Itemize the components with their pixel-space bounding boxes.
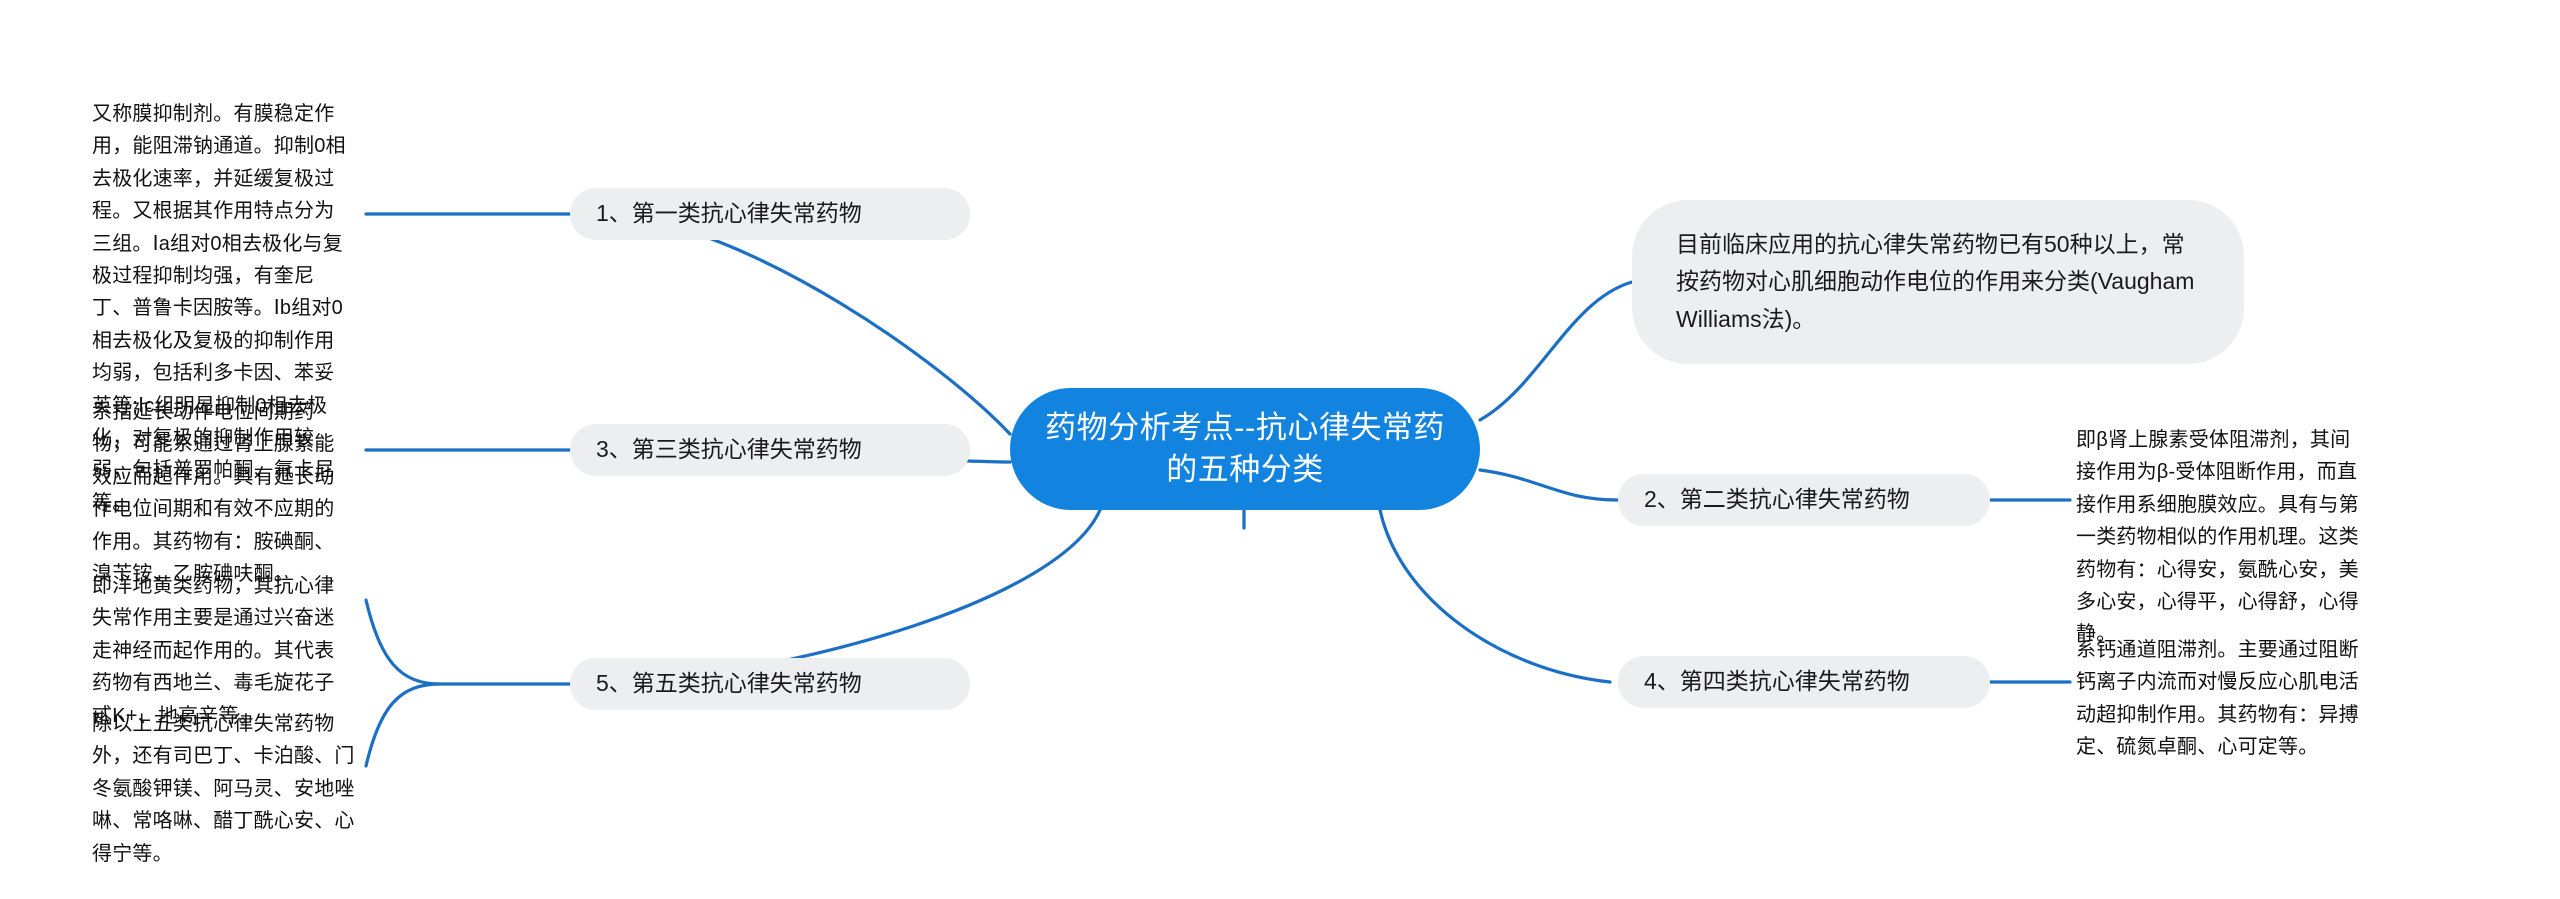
edge-root-to-class2	[1480, 470, 1618, 500]
branch-node-class1[interactable]: 1、第一类抗心律失常药物	[570, 188, 970, 240]
branch-node-class4[interactable]: 4、第四类抗心律失常药物	[1618, 656, 1990, 708]
branch-node-class4-label: 4、第四类抗心律失常药物	[1644, 667, 1910, 697]
leaf-text-class5-extra: 除以上五类抗心律失常药物外，还有司巴丁、卡泊酸、门冬氨酸钾镁、阿马灵、安地唑啉、…	[92, 708, 358, 870]
branch-node-class1-label: 1、第一类抗心律失常药物	[596, 199, 862, 229]
branch-node-class5[interactable]: 5、第五类抗心律失常药物	[570, 658, 970, 710]
root-node[interactable]: 药物分析考点--抗心律失常药的五种分类	[1010, 388, 1480, 510]
leaf-text-class4-detail: 系钙通道阻滞剂。主要通过阻断钙离子内流而对慢反应心肌电活动超抑制作用。其药物有：…	[2076, 634, 2366, 764]
leaf-text-class2-detail: 即β肾上腺素受体阻滞剂，其间接作用为β-受体阻断作用，而直接作用系细胞膜效应。具…	[2076, 424, 2366, 651]
branch-node-class5-label: 5、第五类抗心律失常药物	[596, 669, 862, 699]
edge-root-to-note	[1480, 282, 1632, 420]
edge-root-to-class4	[1380, 510, 1610, 682]
leaf-text-class4-detail-body: 系钙通道阻滞剂。主要通过阻断钙离子内流而对慢反应心肌电活动超抑制作用。其药物有：…	[2076, 639, 2359, 758]
edge-class5-fork-upper	[366, 600, 440, 684]
root-node-label: 药物分析考点--抗心律失常药的五种分类	[1036, 407, 1454, 490]
branch-node-class3[interactable]: 3、第三类抗心律失常药物	[570, 424, 970, 476]
branch-node-class2[interactable]: 2、第二类抗心律失常药物	[1618, 474, 1990, 526]
edge-class5-fork-lower	[366, 684, 440, 766]
branch-node-class3-label: 3、第三类抗心律失常药物	[596, 435, 862, 465]
mindmap-canvas: 药物分析考点--抗心律失常药的五种分类 目前临床应用的抗心律失常药物已有50种以…	[0, 0, 2560, 899]
overview-note-card[interactable]: 目前临床应用的抗心律失常药物已有50种以上，常按药物对心肌细胞动作电位的作用来分…	[1632, 200, 2244, 364]
leaf-text-class3-detail: 系指延长动作电位间期药物，可能系通过肾上腺素能效应而起作用。具有延长动作电位间期…	[92, 396, 350, 590]
leaf-text-class3-detail-body: 系指延长动作电位间期药物，可能系通过肾上腺素能效应而起作用。具有延长动作电位间期…	[92, 401, 334, 585]
leaf-text-class5-extra-body: 除以上五类抗心律失常药物外，还有司巴丁、卡泊酸、门冬氨酸钾镁、阿马灵、安地唑啉、…	[92, 713, 355, 865]
edge-root-to-class1	[620, 214, 1010, 434]
branch-node-class2-label: 2、第二类抗心律失常药物	[1644, 485, 1910, 515]
overview-note-text: 目前临床应用的抗心律失常药物已有50种以上，常按药物对心肌细胞动作电位的作用来分…	[1676, 231, 2194, 332]
leaf-text-class5-detail-body: 即洋地黄类药物，其抗心律失常作用主要是通过兴奋迷走神经而起作用的。其代表药物有西…	[92, 575, 334, 727]
leaf-text-class2-detail-body: 即β肾上腺素受体阻滞剂，其间接作用为β-受体阻断作用，而直接作用系细胞膜效应。具…	[2076, 429, 2359, 645]
